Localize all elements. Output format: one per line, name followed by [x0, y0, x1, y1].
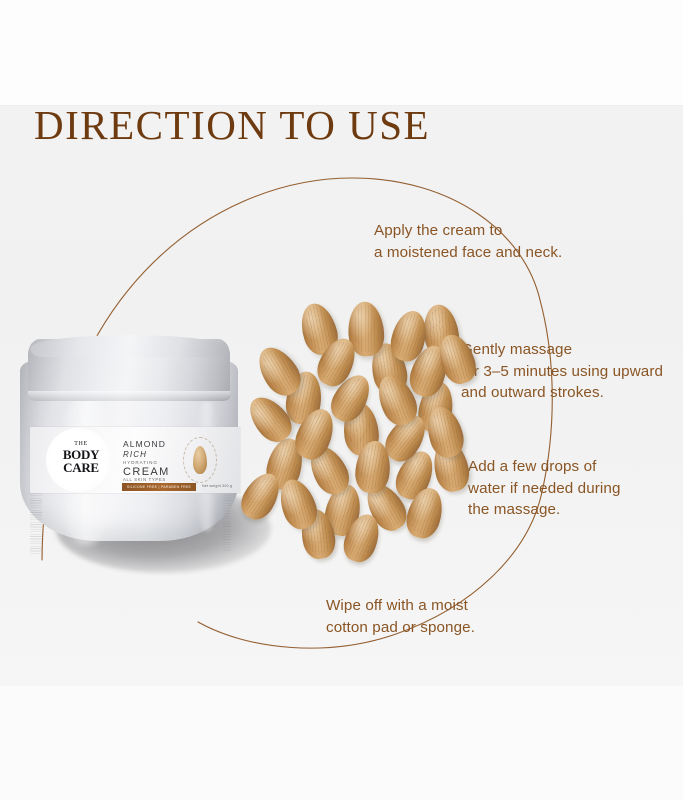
product-variant: ALMOND RICH — [123, 439, 166, 459]
free-from-text: SILICONE FREE | PARABEN FREE — [127, 485, 191, 489]
variant-line-2: RICH — [123, 450, 166, 459]
product-type-line-1: HYDRATING — [123, 460, 170, 465]
product-label: THE BODY CARE ALMOND RICH HYDRATING CREA… — [30, 427, 240, 493]
brand-lockup: THE BODY CARE — [52, 441, 110, 474]
brand-care: CARE — [52, 461, 110, 474]
label-side-microtext — [223, 495, 231, 551]
product-type-line-2: CREAM — [123, 466, 170, 478]
net-weight-text: Net weight 300 g — [202, 484, 232, 488]
almond-seal-icon — [183, 437, 217, 483]
jar-lid-top — [30, 335, 228, 357]
ingredients-microtext — [30, 493, 42, 555]
product-jar: THE BODY CARE ALMOND RICH HYDRATING CREA… — [14, 335, 246, 570]
poster-canvas: DIRECTION TO USE Apply the cream to a mo… — [0, 0, 683, 800]
free-from-banner: SILICONE FREE | PARABEN FREE — [122, 483, 196, 491]
product-type: HYDRATING CREAM — [123, 460, 170, 478]
skin-types-text: ALL SKIN TYPES — [123, 477, 166, 482]
variant-line-1: ALMOND — [123, 439, 166, 449]
almond-icon — [193, 446, 207, 474]
jar-lid-rim — [28, 391, 230, 401]
